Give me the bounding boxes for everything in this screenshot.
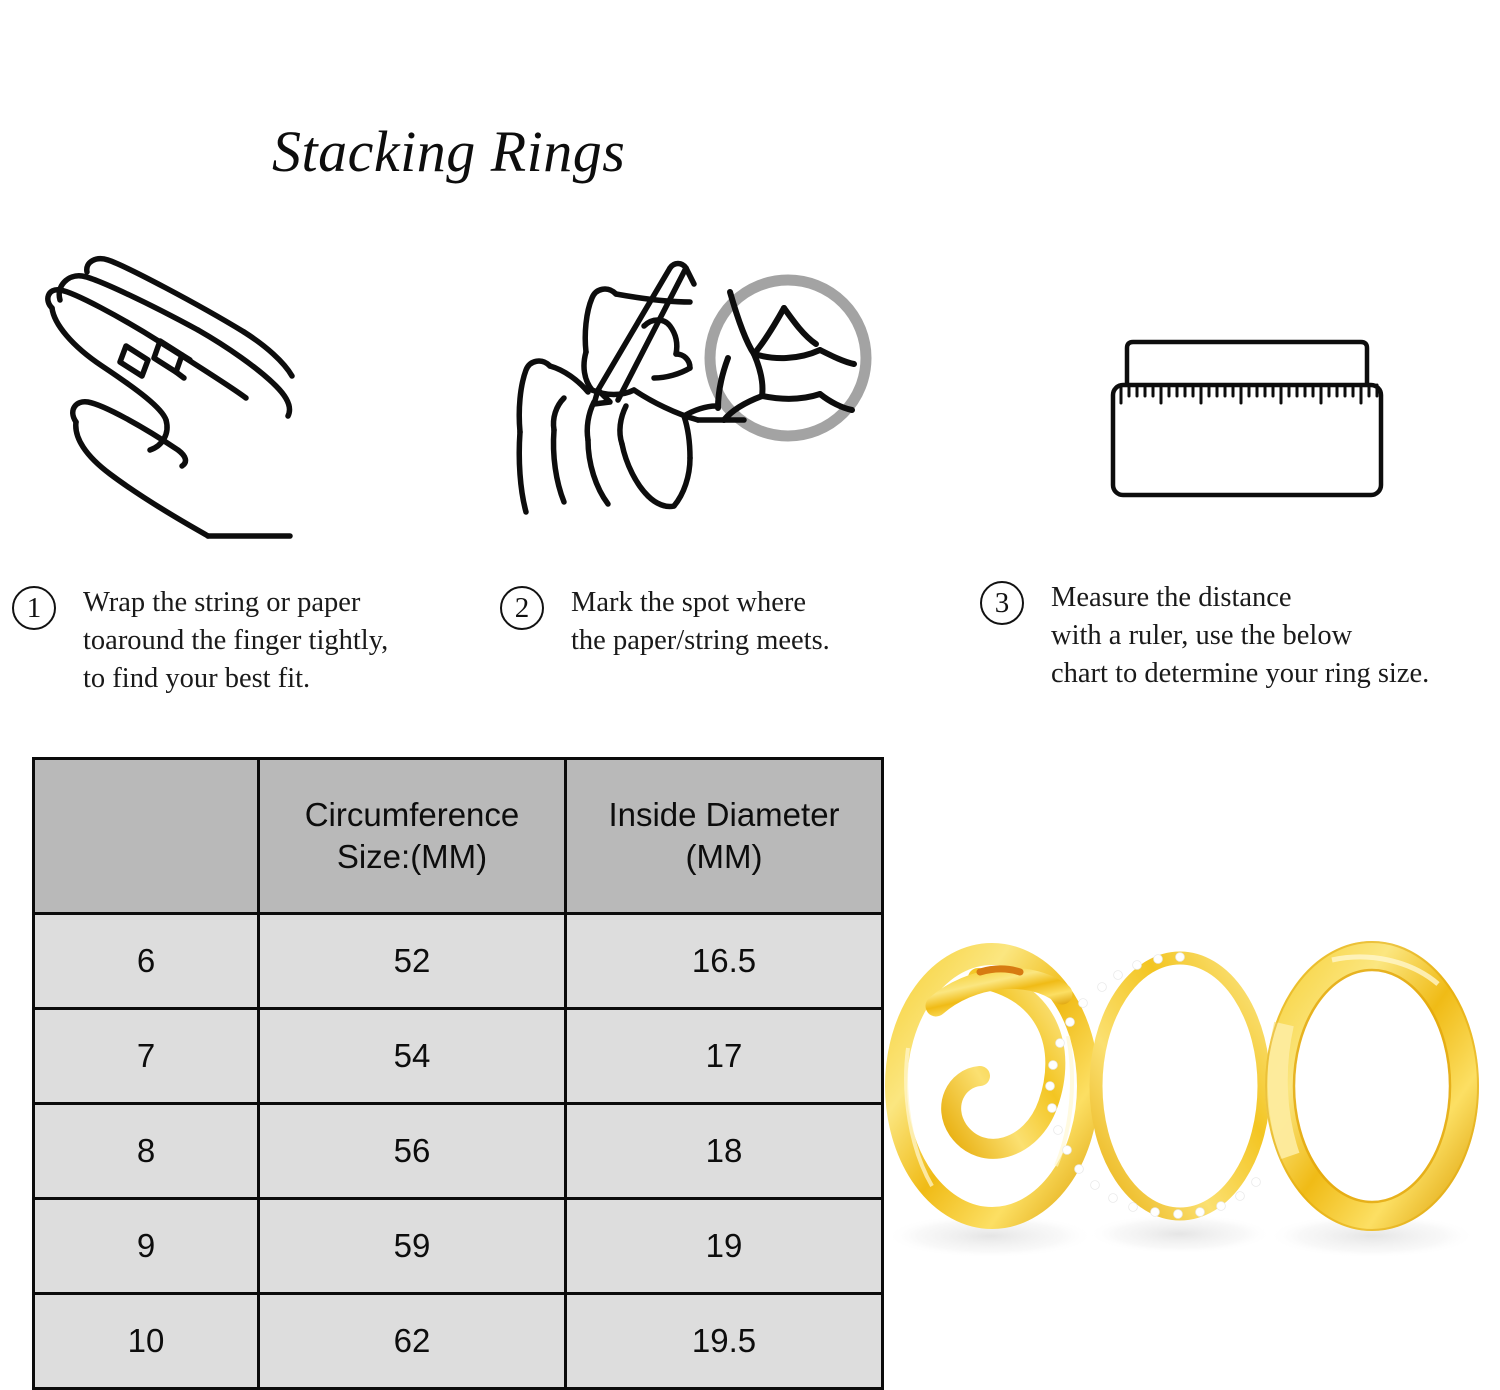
- table-row: 10 62 19.5: [34, 1294, 883, 1389]
- page-title: Stacking Rings: [272, 118, 625, 185]
- step-2-number: 2: [500, 586, 544, 630]
- table-header-row: Circumference Size:(MM) Inside Diameter …: [34, 759, 883, 914]
- spiral-wrap-ring: [896, 954, 1088, 1218]
- step-3-text: Measure the distance with a ruler, use t…: [1051, 579, 1429, 693]
- cell-circumference: 56: [259, 1104, 566, 1199]
- table-header-circumference: Circumference Size:(MM): [259, 759, 566, 914]
- step-1-text: Wrap the string or paper toaround the fi…: [83, 584, 388, 698]
- cell-circumference: 59: [259, 1199, 566, 1294]
- cell-size: 8: [34, 1104, 259, 1199]
- hand-with-paper-strip-illustration: [30, 250, 330, 550]
- cell-circumference: 54: [259, 1009, 566, 1104]
- table-row: 6 52 16.5: [34, 914, 883, 1009]
- cell-inside-diameter: 19.5: [566, 1294, 883, 1389]
- ring-size-table: Circumference Size:(MM) Inside Diameter …: [32, 757, 884, 1390]
- cell-inside-diameter: 18: [566, 1104, 883, 1199]
- step-3: 3 Measure the distance with a ruler, use…: [980, 579, 1429, 693]
- table-header-size: [34, 759, 259, 914]
- plain-band-ring: [1266, 942, 1478, 1230]
- table-header-inside-diameter: Inside Diameter (MM): [566, 759, 883, 914]
- ruler-measuring-paper-strip-illustration: [1085, 330, 1415, 520]
- stacking-rings-photo: [862, 898, 1500, 1298]
- cell-circumference: 52: [259, 914, 566, 1009]
- hand-marking-with-pencil-illustration: [498, 250, 878, 550]
- step-2-text: Mark the spot where the paper/string mee…: [571, 584, 830, 660]
- step-1: 1 Wrap the string or paper toaround the …: [12, 584, 388, 698]
- cell-inside-diameter: 17: [566, 1009, 883, 1104]
- table-row: 8 56 18: [34, 1104, 883, 1199]
- cell-size: 10: [34, 1294, 259, 1389]
- cell-inside-diameter: 19: [566, 1199, 883, 1294]
- cell-circumference: 62: [259, 1294, 566, 1389]
- cell-size: 7: [34, 1009, 259, 1104]
- table-row: 9 59 19: [34, 1199, 883, 1294]
- step-3-number: 3: [980, 581, 1024, 625]
- table-row: 7 54 17: [34, 1009, 883, 1104]
- cell-size: 9: [34, 1199, 259, 1294]
- step-1-number: 1: [12, 586, 56, 630]
- cell-inside-diameter: 16.5: [566, 914, 883, 1009]
- step-2: 2 Mark the spot where the paper/string m…: [500, 584, 830, 660]
- cell-size: 6: [34, 914, 259, 1009]
